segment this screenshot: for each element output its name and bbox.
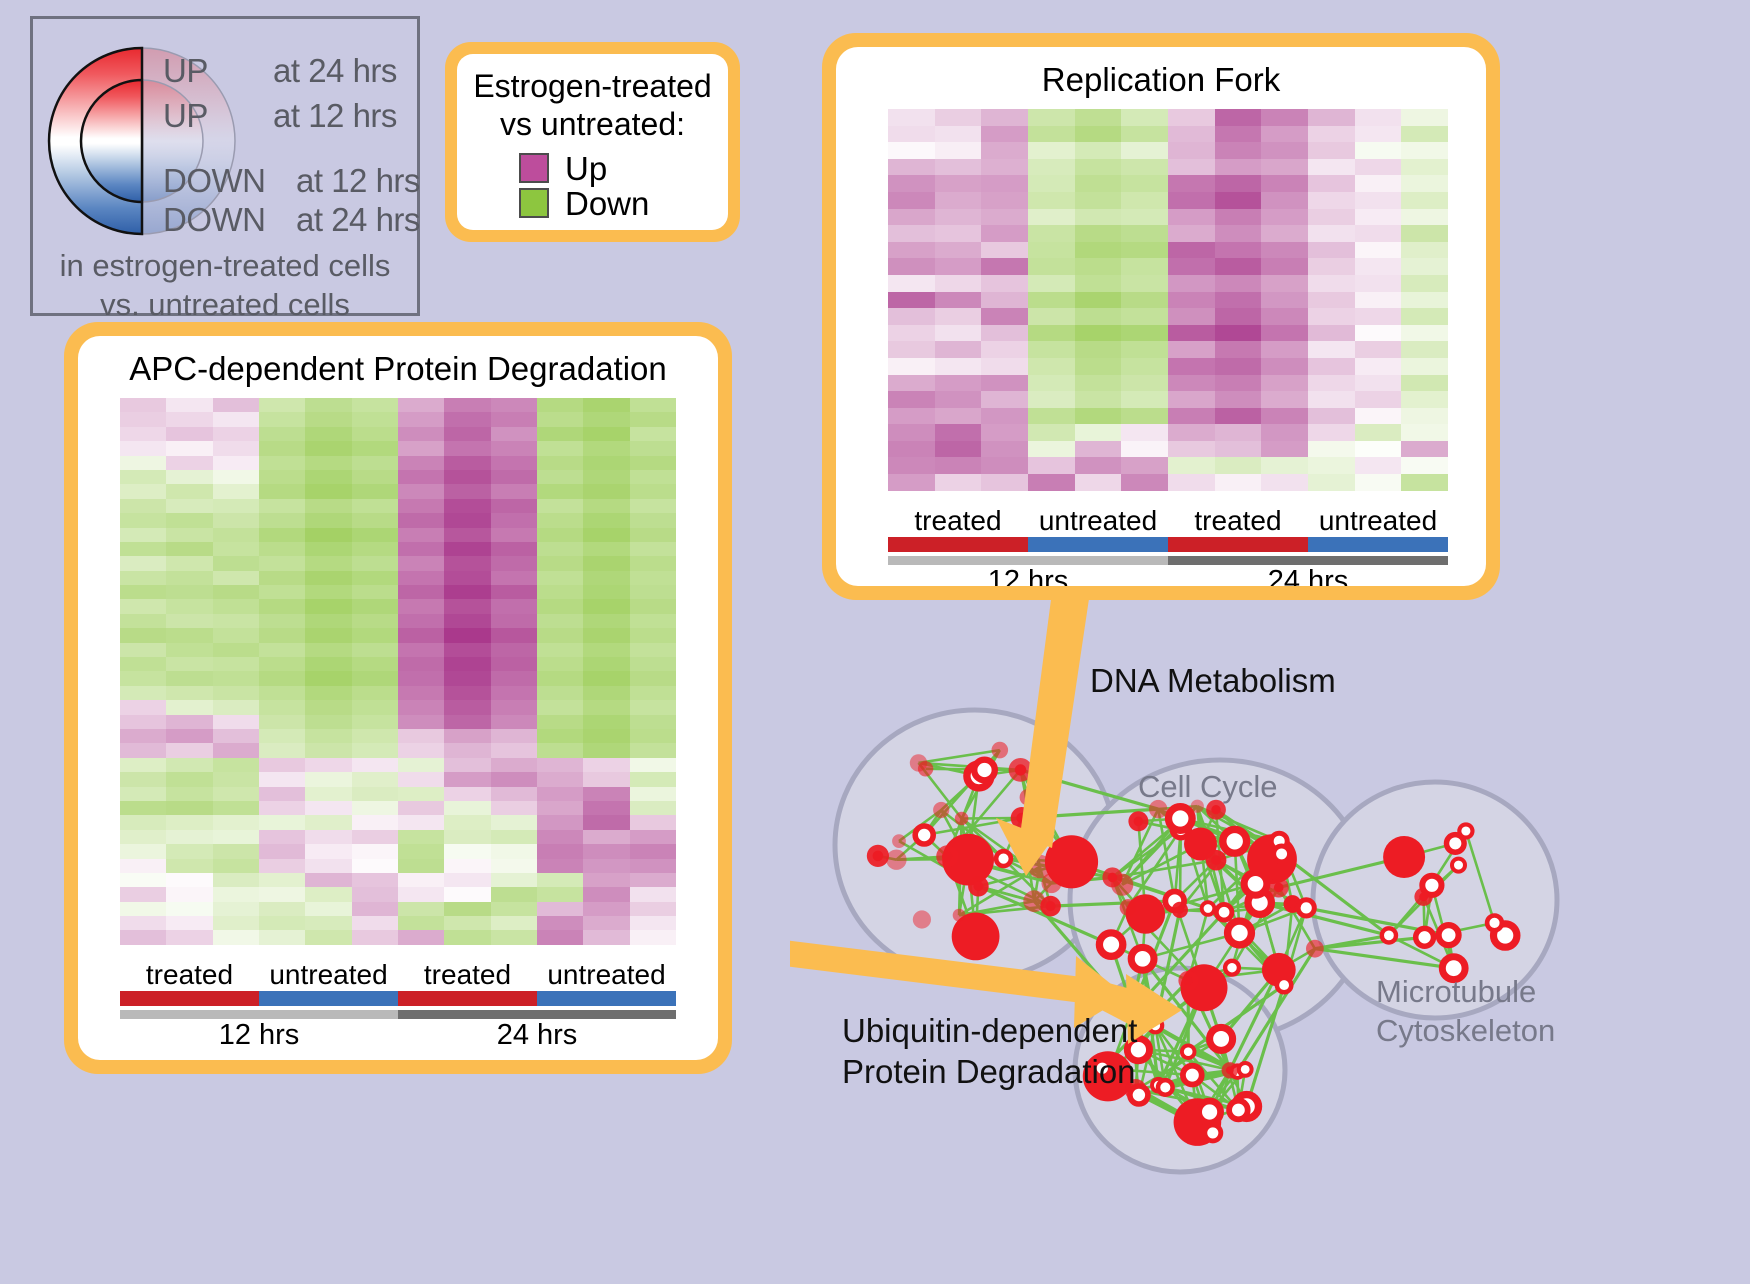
heatmap-cell <box>352 499 398 513</box>
heatmap-cell <box>1028 408 1075 425</box>
heatmap-cell <box>1308 358 1355 375</box>
heatmap-cell <box>537 484 583 498</box>
heatmap-cell <box>444 441 490 455</box>
network-node[interactable] <box>1422 876 1441 895</box>
heatmap-cell <box>935 275 982 292</box>
heatmap-cell <box>1215 358 1262 375</box>
heatmap-cell <box>1355 192 1402 209</box>
heatmap-cell <box>1261 474 1308 491</box>
heatmap-cell <box>213 499 259 513</box>
heatmap-cell <box>120 542 166 556</box>
network-node[interactable] <box>1416 928 1434 946</box>
heatmap-cell <box>537 772 583 786</box>
network-node[interactable] <box>1158 1080 1173 1095</box>
heatmap-cell <box>166 743 212 757</box>
heatmap-cell <box>1121 474 1168 491</box>
heatmap-cell <box>352 830 398 844</box>
heatmap-cell <box>398 930 444 944</box>
heatmap-cell <box>583 830 629 844</box>
legend-down-24-label: DOWN <box>163 201 265 239</box>
heatmap-cell <box>1075 441 1122 458</box>
heatmap-cell <box>630 427 676 441</box>
heatmap-cell <box>444 772 490 786</box>
heatmap-cell <box>120 614 166 628</box>
heatmap-cell <box>166 470 212 484</box>
heatmap-cell <box>259 787 305 801</box>
heatmap-cell <box>1215 474 1262 491</box>
heatmap-cell <box>1028 325 1075 342</box>
heatmap-cell <box>537 628 583 642</box>
heatmap-cell <box>1308 408 1355 425</box>
heatmap-cell <box>888 474 935 491</box>
heatmap-cell <box>491 930 537 944</box>
heatmap-cell <box>166 441 212 455</box>
heatmap-cell <box>537 787 583 801</box>
heatmap-cell <box>491 671 537 685</box>
heatmap-cell <box>491 585 537 599</box>
heatmap-cell <box>1401 375 1448 392</box>
network-node[interactable] <box>992 742 1009 759</box>
heatmap-cell <box>1215 225 1262 242</box>
heatmap-cell <box>166 585 212 599</box>
network-node[interactable] <box>1183 1066 1202 1085</box>
heatmap-cell <box>398 513 444 527</box>
group-bar-segment <box>1028 537 1168 552</box>
heatmap-cell <box>1168 142 1215 159</box>
heatmap-cell <box>1355 474 1402 491</box>
heatmap-cell <box>1308 242 1355 259</box>
heatmap-cell <box>444 787 490 801</box>
heatmap-cell <box>1215 175 1262 192</box>
heatmap-cell <box>120 801 166 815</box>
heatmap-cell <box>537 729 583 743</box>
heatmap-cell <box>398 556 444 570</box>
heatmap-cell <box>491 902 537 916</box>
heatmap-cell <box>981 308 1028 325</box>
heatmap-cell <box>259 830 305 844</box>
heatmap-cell <box>398 902 444 916</box>
heatmap-cell <box>1121 209 1168 226</box>
heatmap-cell <box>213 484 259 498</box>
heatmap-cell <box>981 159 1028 176</box>
heatmap-cell <box>259 513 305 527</box>
heatmap-cell <box>583 499 629 513</box>
heatmap-cell <box>120 930 166 944</box>
heatmap-cell <box>630 614 676 628</box>
heatmap-cell <box>583 758 629 772</box>
heatmap-cell <box>1168 225 1215 242</box>
heatmap-cell <box>630 643 676 657</box>
heatmap-cell <box>398 427 444 441</box>
network-node[interactable] <box>1205 1125 1221 1141</box>
updown-legend-inner: Estrogen-treated vs untreated: Up Down <box>457 54 728 230</box>
heatmap-cell <box>1401 341 1448 358</box>
heatmap-cell <box>1401 441 1448 458</box>
heatmap-cell <box>352 441 398 455</box>
heatmap-cell <box>398 715 444 729</box>
heatmap-cell <box>305 513 351 527</box>
heatmap-cell <box>888 209 935 226</box>
heatmap-cell <box>583 686 629 700</box>
colorwheel-caption: in estrogen-treated cells vs. untreated … <box>33 247 417 325</box>
heatmap-cell <box>537 830 583 844</box>
heatmap-cell <box>352 412 398 426</box>
heatmap-cell <box>888 175 935 192</box>
heatmap-cell <box>166 844 212 858</box>
heatmap-cell <box>981 474 1028 491</box>
heatmap-cell <box>537 887 583 901</box>
heatmap-cell <box>1355 159 1402 176</box>
network-node[interactable] <box>1439 925 1459 945</box>
heatmap-replication-fork-group-bars <box>888 537 1448 552</box>
heatmap-cell <box>583 902 629 916</box>
network-node[interactable] <box>1306 940 1324 958</box>
heatmap-cell <box>537 643 583 657</box>
group-label: treated <box>1168 505 1308 537</box>
network-node[interactable] <box>910 754 927 771</box>
heatmap-cell <box>1168 325 1215 342</box>
network-node[interactable] <box>1216 904 1232 920</box>
heatmap-cell <box>888 325 935 342</box>
heatmap-cell <box>537 599 583 613</box>
network-node[interactable] <box>1487 916 1502 931</box>
heatmap-cell <box>1261 126 1308 143</box>
heatmap-cell <box>1261 225 1308 242</box>
panel-apc-degradation-title: APC-dependent Protein Degradation <box>78 336 718 388</box>
updown-legend-card: Estrogen-treated vs untreated: Up Down <box>445 42 740 242</box>
heatmap-cell <box>259 916 305 930</box>
heatmap-cell <box>305 571 351 585</box>
heatmap-cell <box>1075 209 1122 226</box>
network-node[interactable] <box>867 845 889 867</box>
network-node[interactable] <box>1447 835 1465 853</box>
heatmap-cell <box>352 873 398 887</box>
heatmap-cell <box>1401 308 1448 325</box>
heatmap-cell <box>583 671 629 685</box>
heatmap-cell <box>1401 408 1448 425</box>
heatmap-cell <box>537 571 583 585</box>
heatmap-cell <box>491 556 537 570</box>
heatmap-cell <box>1401 242 1448 259</box>
heatmap-cell <box>537 614 583 628</box>
network-node[interactable] <box>1099 933 1122 956</box>
heatmap-cell <box>166 729 212 743</box>
network-node[interactable] <box>953 909 966 922</box>
heatmap-cell <box>259 686 305 700</box>
heatmap-cell <box>981 341 1028 358</box>
heatmap-cell <box>630 729 676 743</box>
swatch-down-icon <box>519 188 549 218</box>
heatmap-cell <box>491 412 537 426</box>
heatmap-cell <box>981 375 1028 392</box>
network-diagram: DNA Metabolism Cell Cycle Microtubule Cy… <box>790 600 1750 1279</box>
heatmap-cell <box>398 758 444 772</box>
heatmap-cell <box>398 815 444 829</box>
network-node[interactable] <box>913 910 931 928</box>
network-node[interactable] <box>1120 899 1137 916</box>
heatmap-cell <box>1075 192 1122 209</box>
heatmap-cell <box>352 715 398 729</box>
heatmap-cell <box>352 657 398 671</box>
network-node[interactable] <box>892 834 906 848</box>
heatmap-cell <box>259 542 305 556</box>
heatmap-cell <box>259 902 305 916</box>
heatmap-cell <box>259 657 305 671</box>
heatmap-cell <box>1401 391 1448 408</box>
heatmap-cell <box>1121 258 1168 275</box>
heatmap-cell <box>1168 424 1215 441</box>
heatmap-cell <box>1355 175 1402 192</box>
heatmap-cell <box>537 916 583 930</box>
network-node[interactable] <box>1244 872 1267 895</box>
heatmap-cell <box>166 686 212 700</box>
heatmap-cell <box>583 772 629 786</box>
heatmap-cell <box>1355 225 1402 242</box>
heatmap-cell <box>491 398 537 412</box>
legend-down-12-label: DOWN <box>163 162 265 200</box>
heatmap-cell <box>537 470 583 484</box>
network-node[interactable] <box>968 876 989 897</box>
heatmap-cell <box>1215 209 1262 226</box>
network-node[interactable] <box>886 850 906 870</box>
network-node[interactable] <box>1229 1101 1248 1120</box>
heatmap-cell <box>1121 109 1168 126</box>
network-node[interactable] <box>1199 1101 1221 1123</box>
heatmap-cell <box>120 643 166 657</box>
network-node[interactable] <box>974 760 995 781</box>
heatmap-cell <box>537 859 583 873</box>
legend-up-12-label: UP <box>163 97 208 135</box>
heatmap-cell <box>213 887 259 901</box>
heatmap-cell <box>444 700 490 714</box>
heatmap-cell <box>1401 258 1448 275</box>
heatmap-cell <box>166 427 212 441</box>
network-node[interactable] <box>1223 829 1247 853</box>
heatmap-cell <box>491 686 537 700</box>
heatmap-cell <box>1028 192 1075 209</box>
heatmap-cell <box>583 398 629 412</box>
heatmap-cell <box>444 830 490 844</box>
network-node[interactable] <box>1222 1062 1238 1078</box>
heatmap-cell <box>120 815 166 829</box>
heatmap-apc: treateduntreatedtreateduntreated 12 hrs2… <box>120 398 676 1052</box>
heatmap-cell <box>630 513 676 527</box>
heatmap-cell <box>1308 258 1355 275</box>
network-node[interactable] <box>1210 1027 1233 1050</box>
heatmap-cell <box>935 258 982 275</box>
heatmap-cell <box>166 599 212 613</box>
heatmap-replication-fork-time-labels: 12 hrs24 hrs <box>888 565 1448 586</box>
heatmap-cell <box>981 424 1028 441</box>
heatmap-cell <box>259 628 305 642</box>
network-node[interactable] <box>996 851 1011 866</box>
heatmap-cell <box>1261 457 1308 474</box>
network-node[interactable] <box>936 845 958 867</box>
heatmap-cell <box>1215 126 1262 143</box>
heatmap-cell <box>630 571 676 585</box>
heatmap-cell <box>888 308 935 325</box>
heatmap-cell <box>537 657 583 671</box>
heatmap-cell <box>1261 109 1308 126</box>
heatmap-cell <box>398 787 444 801</box>
heatmap-cell <box>352 930 398 944</box>
heatmap-cell <box>1121 424 1168 441</box>
heatmap-cell <box>166 859 212 873</box>
heatmap-cell <box>259 671 305 685</box>
heatmap-cell <box>213 571 259 585</box>
heatmap-cell <box>491 441 537 455</box>
heatmap-cell <box>583 556 629 570</box>
network-node[interactable] <box>915 826 933 844</box>
heatmap-cell <box>305 628 351 642</box>
network-node[interactable] <box>1131 947 1154 970</box>
heatmap-cell <box>583 571 629 585</box>
legend-item-up-label: Up <box>565 152 607 185</box>
swatch-up-icon <box>519 153 549 183</box>
heatmap-cell <box>305 484 351 498</box>
heatmap-cell <box>1075 325 1122 342</box>
heatmap-cell <box>398 456 444 470</box>
group-bar-segment <box>888 537 1028 552</box>
heatmap-cell <box>1355 308 1402 325</box>
heatmap-cell <box>630 930 676 944</box>
group-bar-segment <box>398 991 537 1006</box>
heatmap-apc-time-bars <box>120 1010 676 1019</box>
heatmap-cell <box>583 470 629 484</box>
heatmap-cell <box>1355 209 1402 226</box>
heatmap-cell <box>1308 209 1355 226</box>
network-node[interactable] <box>955 812 969 826</box>
network-label-cell-cycle: Cell Cycle <box>1138 769 1278 805</box>
updown-legend-title: Estrogen-treated vs untreated: <box>467 68 718 144</box>
heatmap-cell <box>935 408 982 425</box>
heatmap-cell <box>1075 258 1122 275</box>
network-node[interactable] <box>1172 902 1188 918</box>
heatmap-cell <box>583 743 629 757</box>
network-node[interactable] <box>1040 896 1061 917</box>
heatmap-cell <box>305 859 351 873</box>
heatmap-cell <box>444 470 490 484</box>
heatmap-cell <box>1168 209 1215 226</box>
heatmap-cell <box>1401 142 1448 159</box>
heatmap-cell <box>166 815 212 829</box>
panel-apc-degradation-inner: APC-dependent Protein Degradation treate… <box>78 336 718 1060</box>
heatmap-cell <box>1121 175 1168 192</box>
network-node[interactable] <box>1383 836 1425 878</box>
heatmap-cell <box>888 275 935 292</box>
network-svg <box>790 600 1750 1279</box>
heatmap-cell <box>1028 341 1075 358</box>
network-node[interactable] <box>1169 807 1193 831</box>
heatmap-cell <box>630 528 676 542</box>
heatmap-cell <box>491 643 537 657</box>
heatmap-cell <box>166 513 212 527</box>
heatmap-cell <box>305 427 351 441</box>
heatmap-cell <box>630 556 676 570</box>
heatmap-cell <box>1028 258 1075 275</box>
heatmap-cell <box>583 715 629 729</box>
heatmap-cell <box>583 916 629 930</box>
heatmap-cell <box>981 358 1028 375</box>
heatmap-cell <box>630 715 676 729</box>
heatmap-cell <box>259 930 305 944</box>
heatmap-cell <box>1261 358 1308 375</box>
heatmap-cell <box>630 815 676 829</box>
colorwheel-legend-box: UP at 24 hrs UP at 12 hrs DOWN at 12 hrs… <box>30 16 420 316</box>
panel-replication-fork: Replication Fork treateduntreatedtreated… <box>822 33 1500 600</box>
network-node[interactable] <box>1382 928 1396 942</box>
heatmap-cell <box>583 585 629 599</box>
heatmap-cell <box>213 427 259 441</box>
heatmap-cell <box>120 470 166 484</box>
heatmap-cell <box>213 815 259 829</box>
network-node[interactable] <box>1128 811 1148 831</box>
heatmap-cell <box>1355 408 1402 425</box>
heatmap-cell <box>166 614 212 628</box>
heatmap-cell <box>120 916 166 930</box>
heatmap-cell <box>537 930 583 944</box>
heatmap-cell <box>1215 424 1262 441</box>
heatmap-cell <box>583 427 629 441</box>
time-label: 24 hrs <box>1168 565 1448 586</box>
heatmap-cell <box>352 585 398 599</box>
colorwheel-caption-line1: in estrogen-treated cells <box>33 247 417 286</box>
heatmap-cell <box>491 844 537 858</box>
heatmap-cell <box>491 456 537 470</box>
heatmap-cell <box>1308 341 1355 358</box>
heatmap-cell <box>935 358 982 375</box>
heatmap-replication-fork-grid <box>888 109 1448 491</box>
heatmap-cell <box>1401 358 1448 375</box>
heatmap-cell <box>1401 126 1448 143</box>
heatmap-cell <box>1168 441 1215 458</box>
heatmap-cell <box>1075 225 1122 242</box>
network-node[interactable] <box>1239 1063 1252 1076</box>
network-node[interactable] <box>1178 971 1198 991</box>
heatmap-cell <box>1075 408 1122 425</box>
network-node[interactable] <box>1228 921 1252 945</box>
heatmap-cell <box>352 844 398 858</box>
network-node[interactable] <box>1452 859 1465 872</box>
heatmap-cell <box>1308 159 1355 176</box>
network-node[interactable] <box>1274 846 1290 862</box>
network-node[interactable] <box>1102 867 1122 887</box>
heatmap-cell <box>305 556 351 570</box>
heatmap-cell <box>981 109 1028 126</box>
heatmap-cell <box>981 242 1028 259</box>
network-node[interactable] <box>1206 850 1227 871</box>
heatmap-cell <box>537 441 583 455</box>
heatmap-cell <box>630 542 676 556</box>
heatmap-cell <box>1261 308 1308 325</box>
heatmap-cell <box>537 427 583 441</box>
heatmap-cell <box>888 358 935 375</box>
network-node[interactable] <box>1284 895 1302 913</box>
heatmap-cell <box>305 715 351 729</box>
heatmap-cell <box>305 470 351 484</box>
network-node[interactable] <box>1182 1045 1195 1058</box>
heatmap-cell <box>259 844 305 858</box>
network-node[interactable] <box>933 802 949 818</box>
heatmap-cell <box>1308 308 1355 325</box>
heatmap-cell <box>352 887 398 901</box>
network-node[interactable] <box>1225 961 1239 975</box>
heatmap-cell <box>491 700 537 714</box>
heatmap-cell <box>120 729 166 743</box>
network-node[interactable] <box>1269 878 1289 898</box>
network-node[interactable] <box>1277 978 1291 992</box>
network-node[interactable] <box>1202 902 1215 915</box>
